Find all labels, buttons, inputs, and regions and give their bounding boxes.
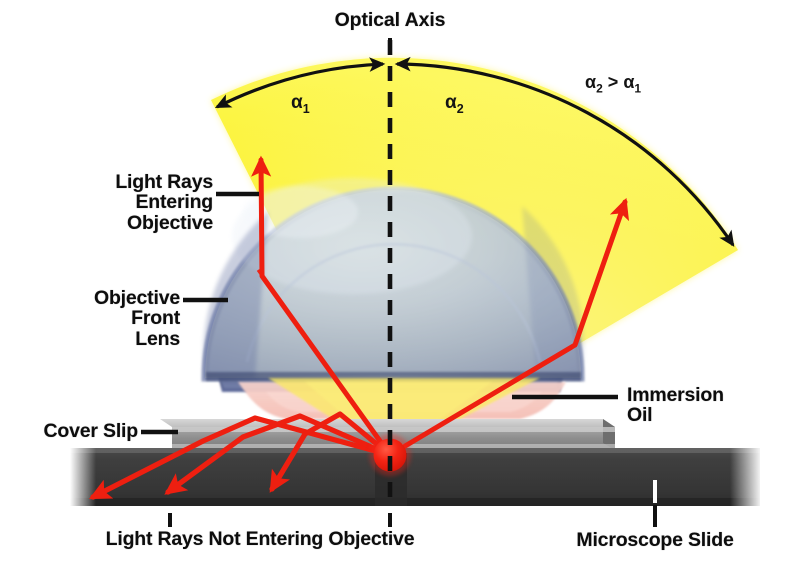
alpha1-symbol: α — [291, 92, 303, 113]
alpha2-label: α2 — [445, 92, 464, 116]
alpha-comparison-left-sub: 2 — [596, 82, 603, 96]
alpha1-subscript: 1 — [303, 102, 310, 116]
page-title: Optical Axis — [300, 10, 480, 30]
label-light-rays-entering-objective: Light Rays Entering Objective — [60, 172, 213, 233]
alpha2-subscript: 2 — [457, 102, 464, 116]
alpha2-symbol: α — [445, 92, 457, 113]
label-line-3: Lens — [40, 329, 180, 349]
alpha-comparison-operator: > — [608, 72, 619, 92]
label-line-1: Immersion — [627, 385, 797, 405]
alpha-comparison-right-symbol: α — [623, 72, 634, 92]
alpha-comparison-left-symbol: α — [585, 72, 596, 92]
microscope-slide-top-sheen — [70, 448, 760, 453]
label-objective-front-lens: Objective Front Lens — [40, 288, 180, 349]
label-immersion-oil: Immersion Oil — [627, 385, 797, 426]
label-line-2: Front — [40, 308, 180, 328]
label-light-rays-not-entering-objective: Light Rays Not Entering Objective — [40, 529, 480, 549]
alpha-comparison-right-sub: 1 — [634, 82, 641, 96]
microscope-slide-fade-left — [70, 444, 96, 510]
diagram-canvas: Optical Axis Light Rays Entering Objecti… — [0, 0, 800, 582]
label-microscope-slide: Microscope Slide — [545, 530, 765, 550]
label-line-2: Entering — [60, 192, 213, 212]
label-cover-slip: Cover Slip — [0, 421, 138, 441]
alpha1-label: α1 — [291, 92, 310, 116]
alpha-comparison-label: α2 > α1 — [585, 72, 641, 96]
label-line-1: Objective — [40, 288, 180, 308]
label-line-2: Oil — [627, 405, 797, 425]
label-line-1: Light Rays — [60, 172, 213, 192]
cover-slip-top-face — [160, 419, 615, 427]
microscope-slide-fade-right — [730, 444, 762, 510]
label-line-3: Objective — [60, 213, 213, 233]
